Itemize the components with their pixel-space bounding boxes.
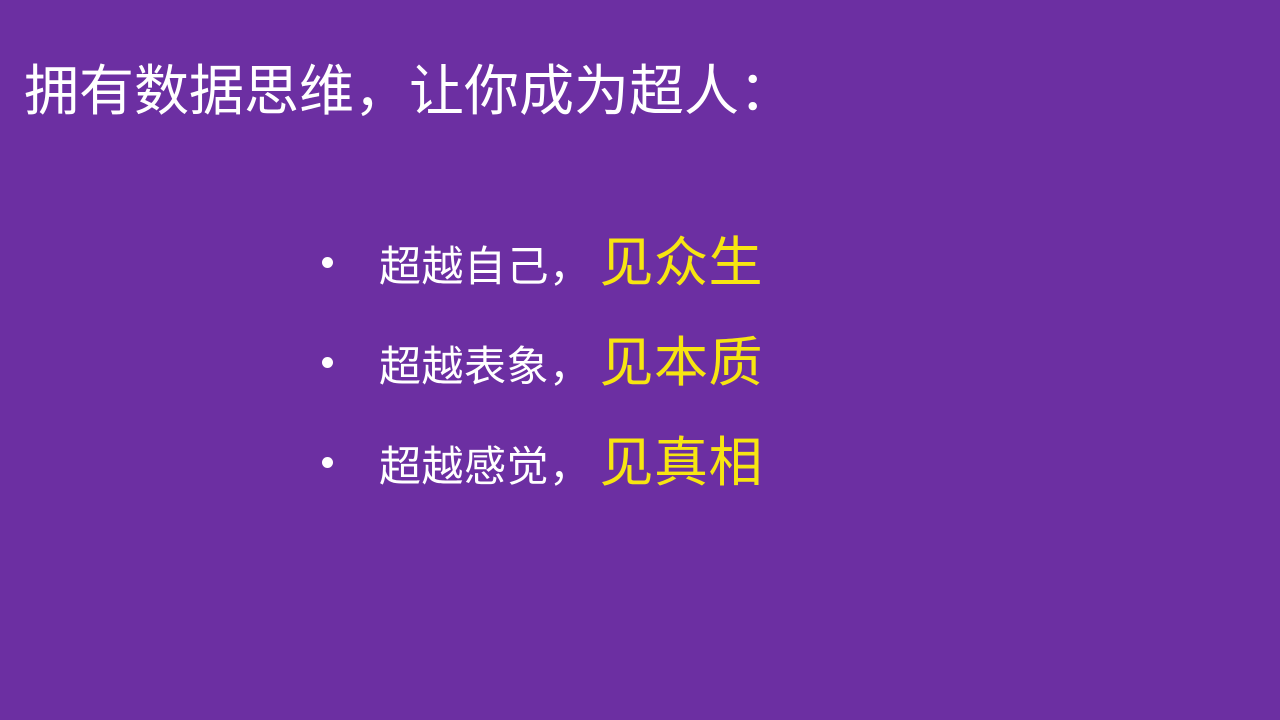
bullet-item-3-text: 超越感觉，见真相 [379, 436, 1022, 490]
bullet-dot-icon [322, 357, 333, 368]
bullet-item-1-accent: 见众生 [600, 231, 764, 294]
bullet-item-2-text: 超越表象，见本质 [379, 336, 1022, 390]
bullet-item-3-plain: 超越感觉， [379, 442, 592, 491]
bullet-dot-icon [322, 457, 333, 468]
bullet-list: 超越自己，见众生 超越表象，见本质 超越感觉，见真相 [322, 236, 1022, 536]
bullet-item-1-plain: 超越自己， [379, 242, 592, 291]
bullet-item-1: 超越自己，见众生 [322, 236, 1022, 336]
bullet-item-1-text: 超越自己，见众生 [379, 236, 1022, 290]
slide-title: 拥有数据思维，让你成为超人： [24, 55, 1204, 127]
bullet-dot-icon [322, 257, 333, 268]
bullet-item-2-accent: 见本质 [600, 331, 764, 394]
bullet-item-2: 超越表象，见本质 [322, 336, 1022, 436]
presentation-slide: 拥有数据思维，让你成为超人： 超越自己，见众生 超越表象，见本质 超越感觉，见真… [0, 0, 1280, 720]
bullet-item-2-plain: 超越表象， [379, 342, 592, 391]
bullet-item-3: 超越感觉，见真相 [322, 436, 1022, 536]
bullet-item-3-accent: 见真相 [600, 431, 764, 494]
